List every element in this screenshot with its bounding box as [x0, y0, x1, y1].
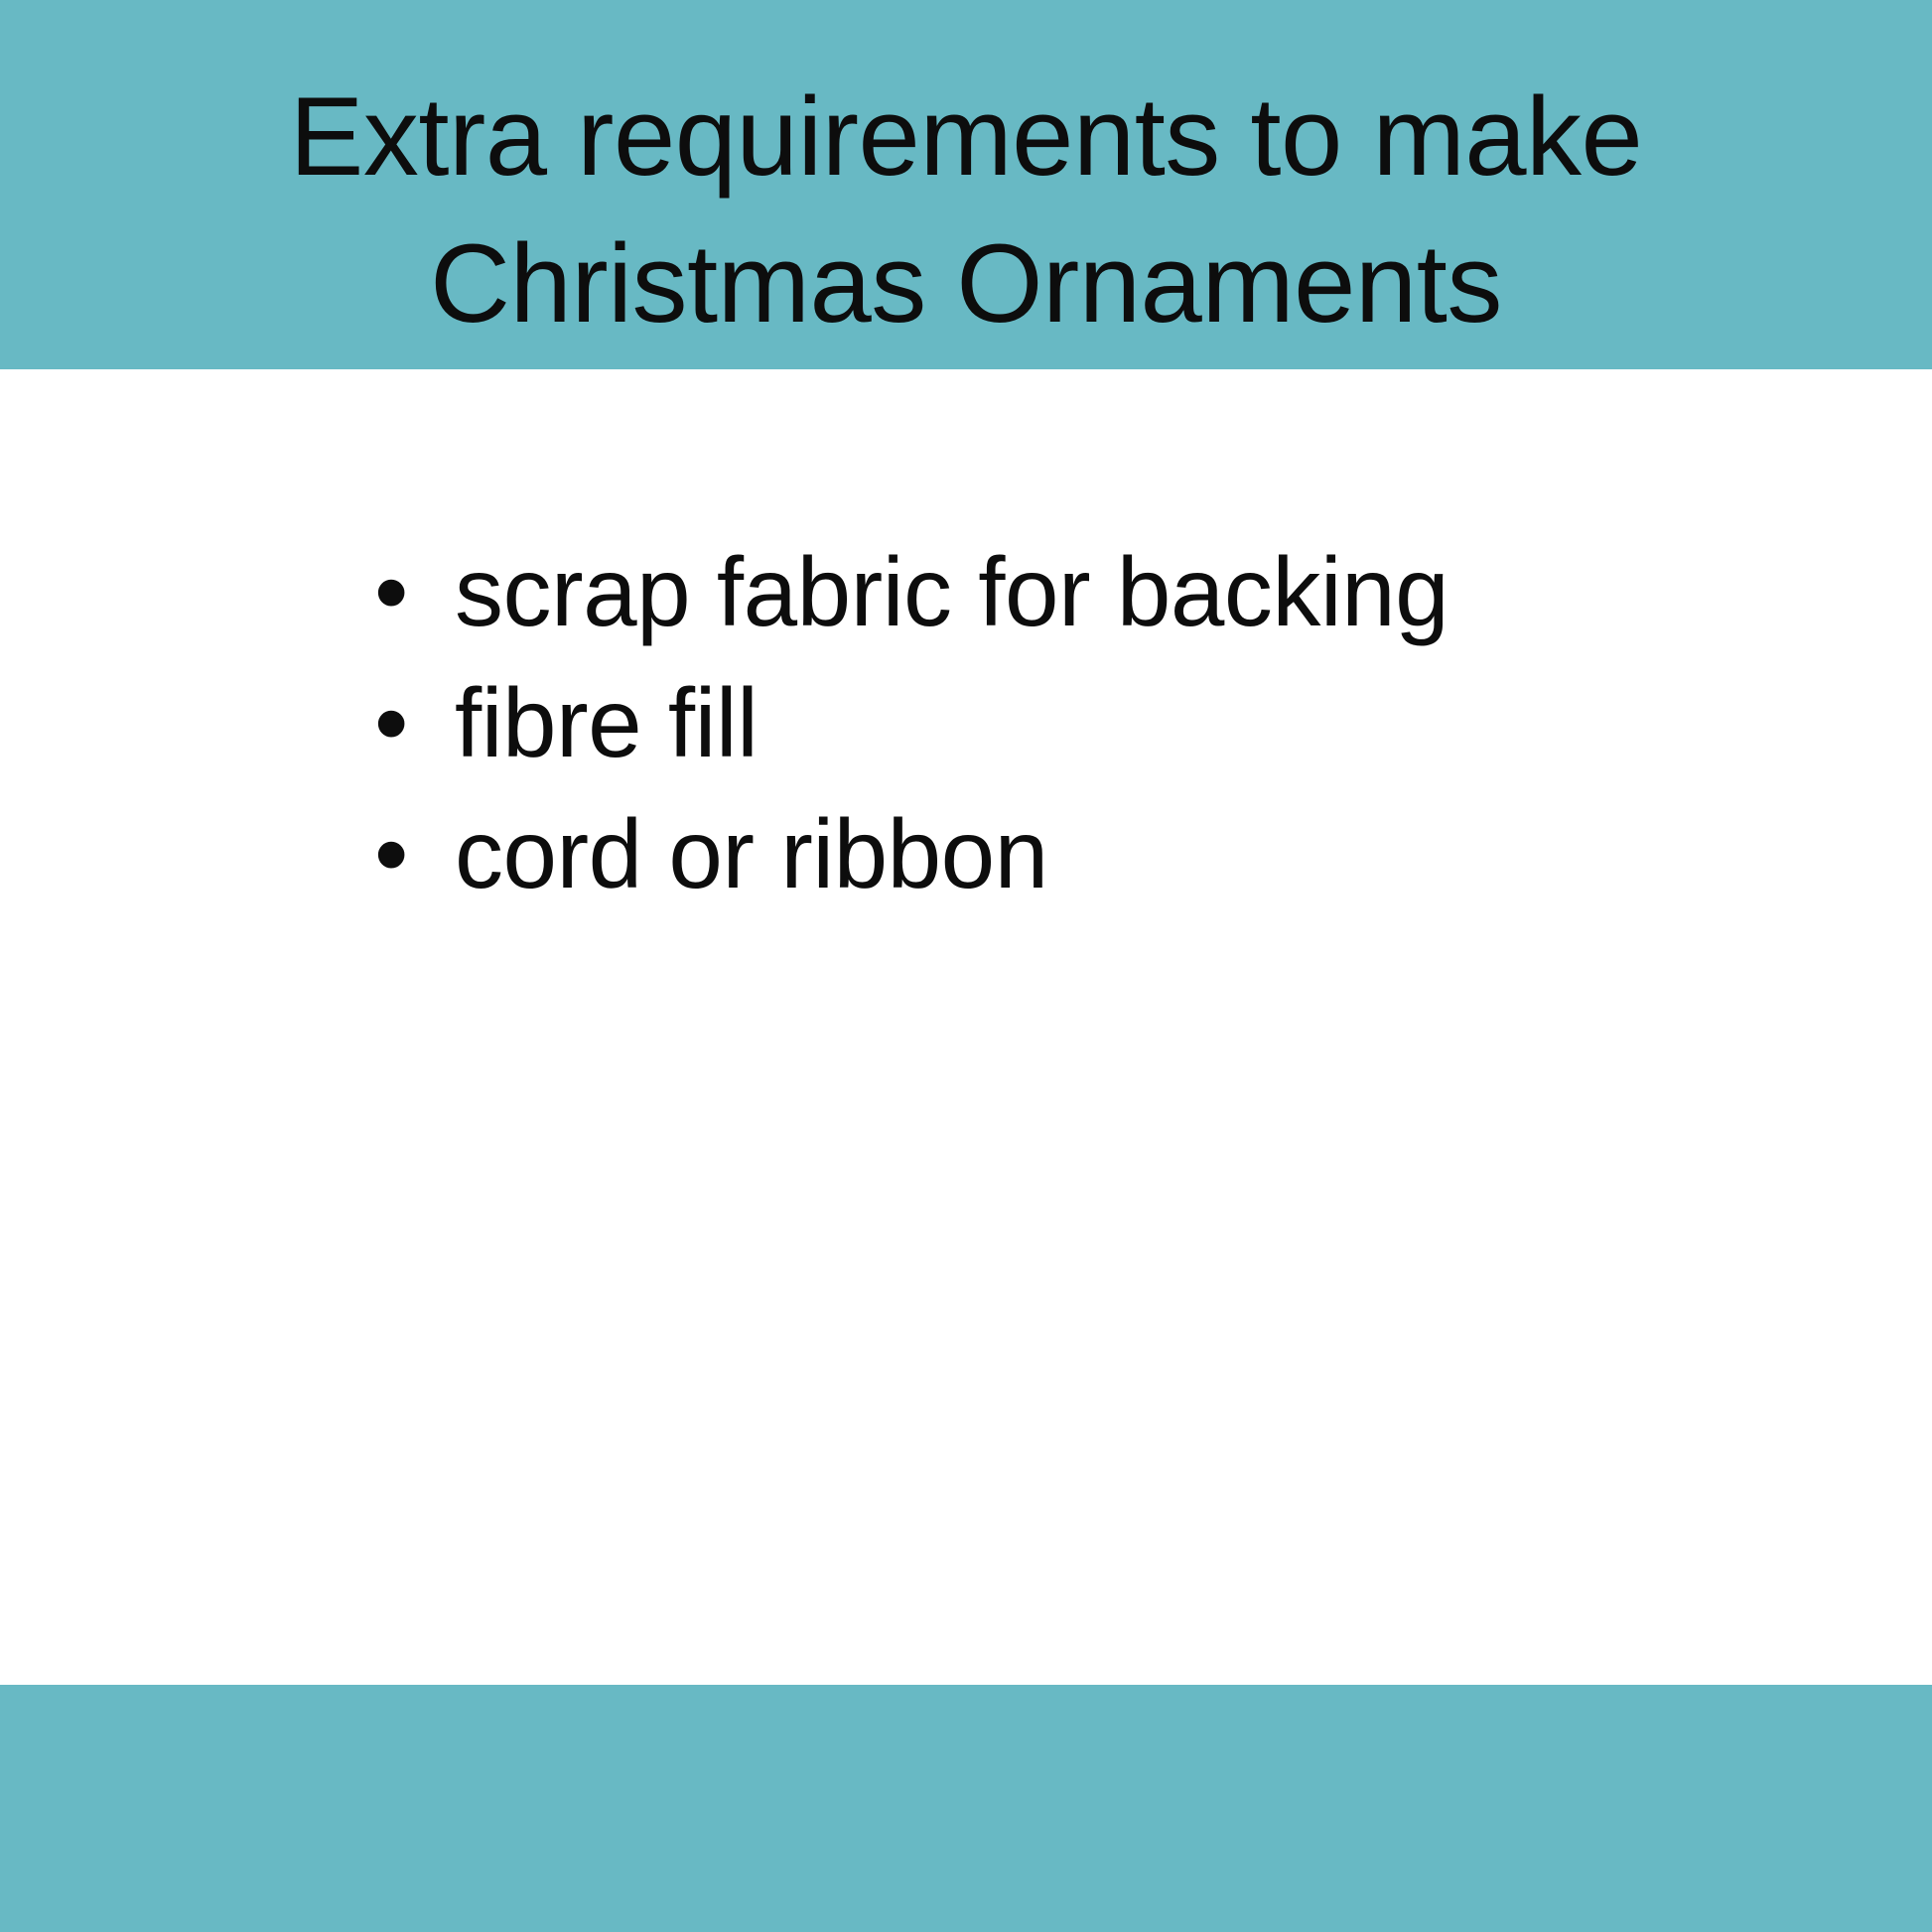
list-item: • scrap fabric for backing: [0, 526, 1932, 657]
list-item-label: cord or ribbon: [455, 788, 1048, 919]
slide-canvas: Extra requirements to make Christmas Orn…: [0, 0, 1932, 1932]
page-title: Extra requirements to make Christmas Orn…: [0, 64, 1932, 357]
requirements-list: • scrap fabric for backing • fibre fill …: [0, 526, 1932, 919]
list-item-label: scrap fabric for backing: [455, 526, 1449, 657]
list-item: • cord or ribbon: [0, 788, 1932, 919]
bullet-dot-icon: •: [374, 657, 455, 788]
bullet-dot-icon: •: [374, 788, 455, 919]
list-item-label: fibre fill: [455, 657, 758, 788]
bullet-dot-icon: •: [374, 526, 455, 657]
list-item: • fibre fill: [0, 657, 1932, 788]
footer-band: [0, 1685, 1932, 1932]
